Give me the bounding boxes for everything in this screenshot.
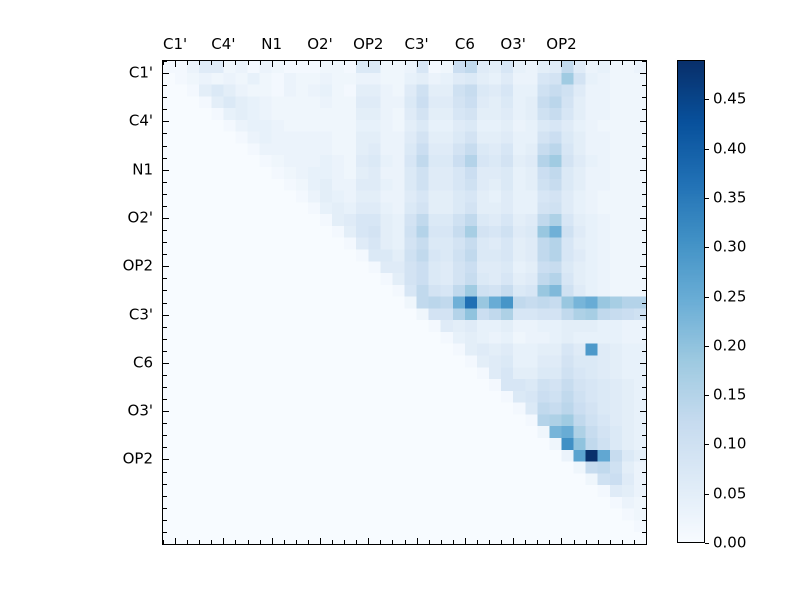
y-tick: [163, 435, 167, 436]
y-tick: [642, 351, 646, 352]
y-tick: [163, 146, 167, 147]
y-tick-label: C3': [129, 307, 153, 322]
y-tick: [642, 520, 646, 521]
x-tick: [537, 540, 538, 544]
x-tick: [284, 61, 285, 65]
y-tick-label: C1': [129, 66, 153, 81]
x-tick: [199, 540, 200, 544]
x-tick: [429, 540, 430, 544]
y-tick: [642, 158, 646, 159]
x-tick: [465, 538, 466, 544]
x-tick: [441, 61, 442, 65]
x-tick: [561, 538, 562, 544]
y-tick: [163, 399, 167, 400]
y-tick: [163, 230, 167, 231]
x-tick: [187, 61, 188, 65]
y-tick: [163, 484, 167, 485]
x-tick: [610, 61, 611, 65]
y-tick: [163, 303, 167, 304]
x-tick: [175, 538, 176, 544]
colorbar-tick: [705, 99, 709, 100]
y-tick: [642, 496, 646, 497]
y-tick: [163, 339, 167, 340]
x-tick: [248, 540, 249, 544]
y-tick: [642, 387, 646, 388]
x-tick: [392, 61, 393, 65]
colorbar-tick-label: 0.20: [713, 338, 746, 353]
colorbar-tick: [705, 297, 709, 298]
y-tick: [642, 303, 646, 304]
x-tick-label: N1: [261, 37, 282, 52]
colorbar-tick-label: 0.15: [713, 388, 746, 403]
x-tick: [489, 540, 490, 544]
x-tick: [344, 540, 345, 544]
y-tick: [642, 472, 646, 473]
x-tick: [477, 540, 478, 544]
x-tick: [417, 538, 418, 544]
x-tick: [586, 540, 587, 544]
y-tick-label: C4': [129, 114, 153, 129]
y-tick: [640, 411, 646, 412]
x-tick: [537, 61, 538, 65]
x-tick: [598, 540, 599, 544]
x-tick: [622, 540, 623, 544]
y-tick: [642, 339, 646, 340]
x-tick: [368, 538, 369, 544]
x-tick: [272, 538, 273, 544]
y-tick: [642, 375, 646, 376]
x-tick: [513, 61, 514, 67]
x-tick: [610, 540, 611, 544]
y-tick-label: OP2: [123, 452, 153, 467]
y-tick: [163, 459, 169, 460]
y-tick: [163, 97, 167, 98]
y-tick: [163, 121, 169, 122]
y-tick: [642, 194, 646, 195]
y-tick: [642, 133, 646, 134]
x-tick: [405, 540, 406, 544]
y-tick: [163, 508, 167, 509]
colorbar-tick-label: 0.45: [713, 92, 746, 107]
y-tick: [642, 146, 646, 147]
x-tick: [646, 61, 647, 65]
y-tick: [163, 315, 169, 316]
colorbar-tick: [705, 346, 709, 347]
y-tick: [642, 206, 646, 207]
x-tick: [284, 540, 285, 544]
colorbar-tick: [705, 494, 709, 495]
y-tick: [642, 242, 646, 243]
y-tick: [163, 351, 167, 352]
colorbar-tick-label: 0.00: [713, 536, 746, 551]
heatmap-image: [163, 61, 646, 544]
x-tick: [320, 538, 321, 544]
x-tick: [235, 540, 236, 544]
y-tick: [163, 472, 167, 473]
y-tick: [642, 290, 646, 291]
y-tick: [642, 182, 646, 183]
x-tick: [187, 540, 188, 544]
y-tick: [642, 254, 646, 255]
y-tick: [642, 399, 646, 400]
x-tick: [513, 538, 514, 544]
x-tick: [223, 61, 224, 67]
x-tick: [356, 540, 357, 544]
y-tick: [642, 435, 646, 436]
colorbar-tick: [705, 198, 709, 199]
y-tick: [642, 85, 646, 86]
x-tick-label: O2': [307, 37, 332, 52]
x-tick-label: O3': [500, 37, 525, 52]
y-tick: [163, 242, 167, 243]
y-tick: [163, 520, 167, 521]
x-tick: [598, 61, 599, 65]
y-tick: [163, 266, 169, 267]
colorbar-tick-label: 0.05: [713, 486, 746, 501]
y-tick: [163, 182, 167, 183]
colorbar-tick: [705, 247, 709, 248]
y-tick: [163, 363, 169, 364]
x-tick: [332, 61, 333, 65]
x-tick: [634, 61, 635, 65]
colorbar-tick-label: 0.10: [713, 437, 746, 452]
y-tick: [163, 532, 167, 533]
y-tick: [640, 170, 646, 171]
colorbar-tick: [705, 444, 709, 445]
y-tick: [163, 85, 167, 86]
x-tick: [272, 61, 273, 67]
colorbar-tick: [705, 395, 709, 396]
x-tick-label: C6: [455, 37, 475, 52]
x-tick: [525, 540, 526, 544]
x-tick: [235, 61, 236, 65]
x-tick: [248, 61, 249, 65]
x-tick: [368, 61, 369, 67]
y-tick: [163, 61, 167, 62]
y-tick-label: OP2: [123, 259, 153, 274]
y-tick: [640, 363, 646, 364]
y-tick: [163, 387, 167, 388]
x-tick: [344, 61, 345, 65]
y-tick: [642, 278, 646, 279]
x-tick: [453, 61, 454, 65]
x-tick-label: OP2: [546, 37, 576, 52]
x-tick: [380, 61, 381, 65]
x-tick: [561, 61, 562, 67]
x-tick: [465, 61, 466, 67]
x-tick: [211, 61, 212, 65]
y-tick: [642, 508, 646, 509]
y-tick: [642, 544, 646, 545]
x-tick: [356, 61, 357, 65]
x-tick-label: C1': [163, 37, 187, 52]
x-tick: [574, 540, 575, 544]
x-tick: [477, 61, 478, 65]
y-tick: [640, 121, 646, 122]
x-tick: [223, 538, 224, 544]
y-tick: [640, 218, 646, 219]
y-tick: [163, 496, 167, 497]
y-tick: [642, 97, 646, 98]
y-tick: [163, 133, 167, 134]
y-tick: [163, 375, 167, 376]
y-tick: [642, 230, 646, 231]
heatmap-axes: C1'C4'N1O2'OP2C3'C6O3'OP2 C1'C4'N1O2'OP2…: [162, 60, 647, 545]
x-tick: [332, 540, 333, 544]
y-tick: [163, 170, 169, 171]
x-tick: [392, 540, 393, 544]
x-tick: [574, 61, 575, 65]
y-tick: [163, 278, 167, 279]
colorbar-tick-label: 0.35: [713, 191, 746, 206]
colorbar-tick-label: 0.25: [713, 289, 746, 304]
y-tick: [163, 254, 167, 255]
y-tick: [642, 327, 646, 328]
y-tick: [163, 447, 167, 448]
y-tick: [163, 73, 169, 74]
y-tick-label: C6: [133, 355, 153, 370]
y-tick-label: N1: [132, 162, 153, 177]
x-tick: [417, 61, 418, 67]
y-tick: [163, 206, 167, 207]
x-tick: [441, 540, 442, 544]
y-tick: [642, 109, 646, 110]
y-tick: [642, 447, 646, 448]
x-tick: [260, 61, 261, 65]
x-tick: [429, 61, 430, 65]
y-tick: [640, 73, 646, 74]
x-tick: [260, 540, 261, 544]
x-tick: [199, 61, 200, 65]
colorbar-tick: [705, 149, 709, 150]
y-tick-label: O2': [128, 210, 153, 225]
x-tick: [296, 540, 297, 544]
y-tick: [163, 411, 169, 412]
x-tick: [634, 540, 635, 544]
y-tick: [163, 290, 167, 291]
x-tick: [211, 540, 212, 544]
x-tick: [501, 61, 502, 65]
y-tick: [642, 61, 646, 62]
x-tick-label: C4': [211, 37, 235, 52]
x-tick: [296, 61, 297, 65]
y-tick: [642, 484, 646, 485]
y-tick: [163, 423, 167, 424]
y-tick: [640, 315, 646, 316]
y-tick: [163, 194, 167, 195]
y-tick: [640, 266, 646, 267]
x-tick: [525, 61, 526, 65]
y-tick: [642, 423, 646, 424]
y-tick: [640, 459, 646, 460]
y-tick: [163, 218, 169, 219]
x-tick: [501, 540, 502, 544]
x-tick: [489, 61, 490, 65]
colorbar: 0.000.050.100.150.200.250.300.350.400.45: [677, 60, 705, 543]
x-tick: [453, 540, 454, 544]
x-tick: [549, 540, 550, 544]
colorbar-tick-label: 0.30: [713, 240, 746, 255]
x-tick: [549, 61, 550, 65]
x-tick: [622, 61, 623, 65]
y-tick: [163, 109, 167, 110]
colorbar-gradient: [677, 60, 705, 543]
x-tick: [320, 61, 321, 67]
colorbar-tick: [705, 543, 709, 544]
x-tick: [175, 61, 176, 67]
y-tick-label: O3': [128, 404, 153, 419]
y-tick: [642, 532, 646, 533]
heatmap-figure: C1'C4'N1O2'OP2C3'C6O3'OP2 C1'C4'N1O2'OP2…: [0, 0, 800, 600]
x-tick: [308, 61, 309, 65]
x-tick: [380, 540, 381, 544]
x-tick: [308, 540, 309, 544]
y-tick: [163, 544, 167, 545]
colorbar-tick-label: 0.40: [713, 141, 746, 156]
y-tick: [163, 327, 167, 328]
x-tick: [405, 61, 406, 65]
x-tick-label: C3': [404, 37, 428, 52]
x-tick: [586, 61, 587, 65]
y-tick: [163, 158, 167, 159]
x-tick-label: OP2: [353, 37, 383, 52]
x-tick: [646, 540, 647, 544]
